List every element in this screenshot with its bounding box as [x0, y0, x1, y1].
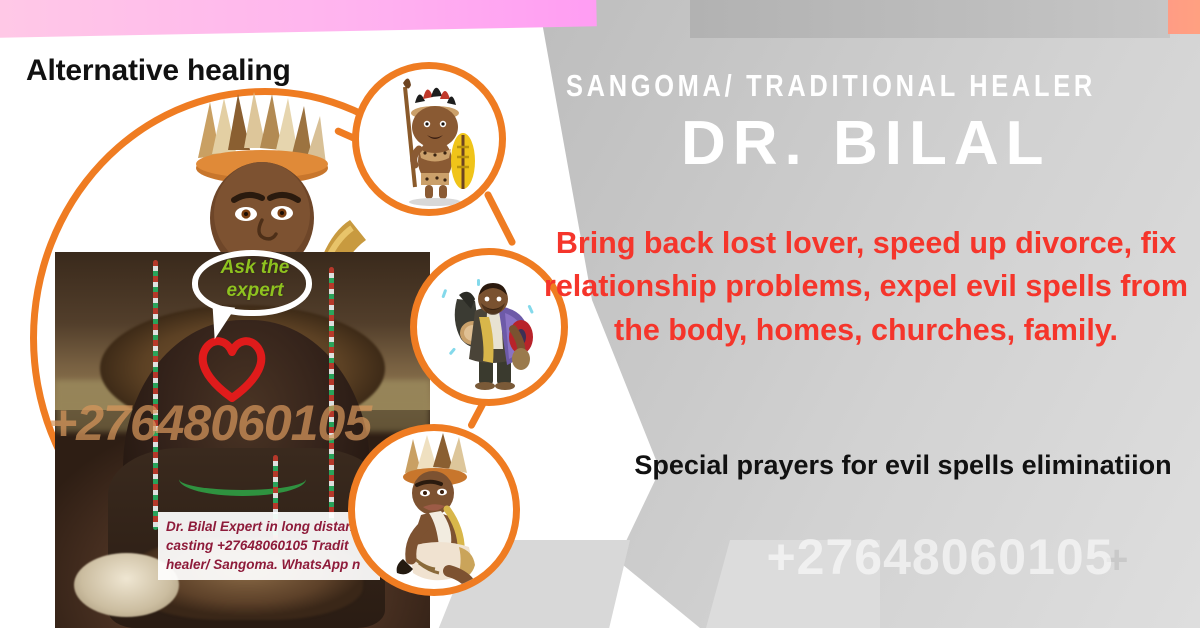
top-pink-bar	[0, 0, 597, 38]
kicker-headline: SANGOMA/ TRADITIONAL HEALER	[566, 68, 1074, 104]
healer-name: DR. BILAL	[681, 108, 1200, 179]
photo-caption: Dr. Bilal Expert in long distan casting …	[158, 512, 380, 580]
speech-bubble-label: Ask the expert	[204, 256, 306, 302]
arc-connector-middle	[483, 190, 516, 247]
photo-watermark-phone: +27648060105	[48, 394, 371, 452]
caption-line-1: Dr. Bilal Expert in long distan	[166, 517, 373, 536]
top-orange-bar	[1168, 0, 1200, 34]
heart-outline-icon	[196, 336, 268, 402]
caption-line-2: casting +27648060105 Tradit	[166, 536, 373, 555]
special-prayers-text: Special prayers for evil spells eliminat…	[620, 446, 1186, 484]
services-description: Bring back lost lover, speed up divorce,…	[540, 222, 1192, 352]
circle-badge-bottom	[348, 424, 520, 596]
poster-canvas: + Alternative healing	[0, 0, 1200, 628]
circle-badge-top	[352, 62, 506, 216]
top-gray-bar	[690, 0, 1170, 38]
page-title: Alternative healing	[26, 54, 291, 88]
crouching-warrior-illustration	[355, 431, 513, 589]
contact-phone-watermark: +27648060105	[690, 528, 1190, 586]
caption-line-3: healer/ Sangoma. WhatsApp n	[166, 555, 373, 574]
zulu-child-warrior-illustration	[359, 69, 499, 209]
